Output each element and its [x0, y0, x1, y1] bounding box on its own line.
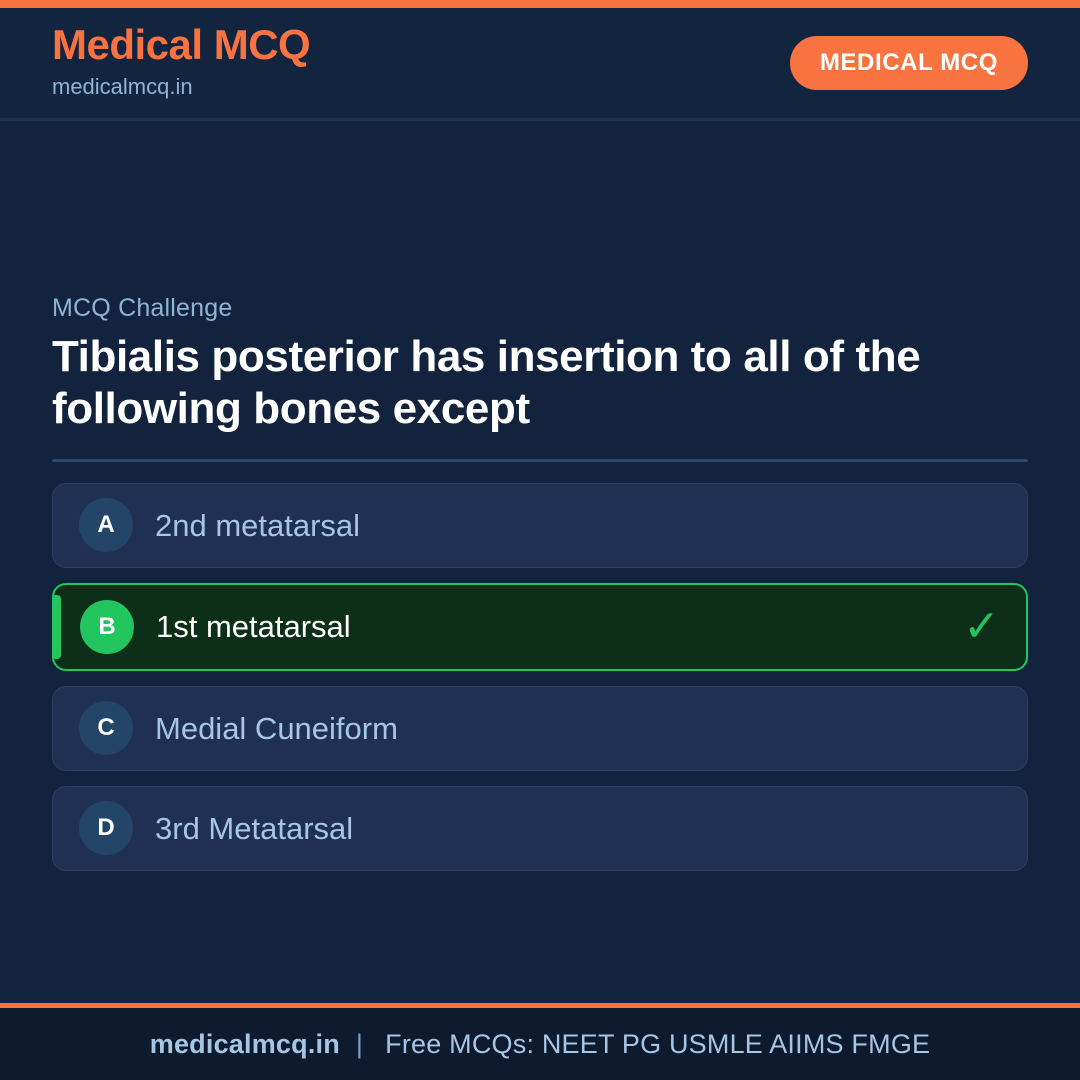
option-row-b[interactable]: B 1st metatarsal ✓	[52, 583, 1028, 671]
brand-subtitle: medicalmcq.in	[52, 70, 310, 103]
option-letter-badge: C	[79, 701, 133, 755]
correct-accent-bar	[54, 595, 61, 659]
option-row-d[interactable]: D 3rd Metatarsal	[52, 786, 1028, 871]
option-letter-badge: B	[80, 600, 134, 654]
option-label: 1st metatarsal	[156, 608, 351, 645]
header-bar: Medical MCQ medicalmcq.in MEDICAL MCQ	[0, 8, 1080, 121]
top-accent-stripe	[0, 0, 1080, 8]
question-kicker: MCQ Challenge	[52, 293, 1028, 323]
question-text: Tibialis posterior has insertion to all …	[52, 331, 1028, 435]
option-row-c[interactable]: C Medial Cuneiform	[52, 686, 1028, 771]
brand-block: Medical MCQ medicalmcq.in	[52, 23, 310, 102]
option-letter-badge: A	[79, 498, 133, 552]
question-block: MCQ Challenge Tibialis posterior has ins…	[52, 293, 1028, 462]
option-label: 3rd Metatarsal	[155, 810, 353, 847]
option-row-a[interactable]: A 2nd metatarsal	[52, 483, 1028, 568]
brand-title: Medical MCQ	[52, 23, 310, 67]
options-list: A 2nd metatarsal B 1st metatarsal ✓ C Me…	[52, 483, 1028, 871]
check-icon: ✓	[963, 605, 1000, 649]
footer-exams-label: Free MCQs: NEET PG USMLE AIIMS FMGE	[379, 1029, 930, 1059]
content-area: MCQ Challenge Tibialis posterior has ins…	[0, 121, 1080, 1003]
footer-site-link[interactable]: medicalmcq.in	[150, 1029, 340, 1059]
header-badge: MEDICAL MCQ	[790, 36, 1028, 90]
mcq-card: Medical MCQ medicalmcq.in MEDICAL MCQ MC…	[0, 0, 1080, 1080]
option-label: Medial Cuneiform	[155, 710, 398, 747]
footer-bar: medicalmcq.in|Free MCQs: NEET PG USMLE A…	[0, 1003, 1080, 1080]
footer-text: medicalmcq.in|Free MCQs: NEET PG USMLE A…	[150, 1029, 930, 1060]
option-letter-badge: D	[79, 801, 133, 855]
footer-separator: |	[340, 1029, 379, 1059]
question-divider	[52, 459, 1028, 462]
option-label: 2nd metatarsal	[155, 507, 360, 544]
